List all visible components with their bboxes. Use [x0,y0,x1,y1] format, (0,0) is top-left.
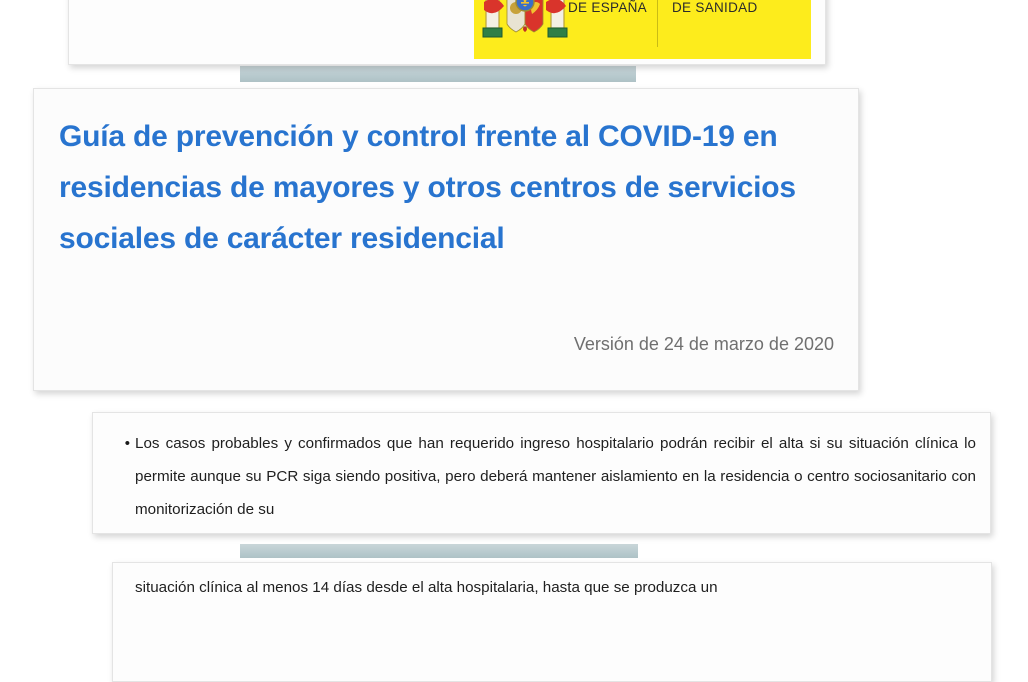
bullet-paragraph-card: • Los casos probables y confirmados que … [92,412,991,534]
logo-header-card: GOBIERNO DE ESPAÑA MINISTERIO DE SANIDAD [68,0,826,65]
page-title: Guía de prevención y control frente al C… [59,111,841,264]
ministerio-line-2: DE SANIDAD [672,0,758,16]
continuation-paragraph-text: situación clínica al menos 14 días desde… [135,571,975,604]
document-version-label: Versión de 24 de marzo de 2020 [574,334,834,355]
coat-of-arms-icon [482,0,568,50]
document-viewer-canvas: GOBIERNO DE ESPAÑA MINISTERIO DE SANIDAD… [0,0,1028,578]
gobierno-line-2: DE ESPAÑA [568,0,647,16]
list-item: • Los casos probables y confirmados que … [93,427,990,526]
gobierno-de-espana-label: GOBIERNO DE ESPAÑA [568,0,647,16]
card-connector-band-top [240,66,636,82]
card-connector-band-middle [240,544,638,558]
logo-vertical-divider [657,0,658,47]
continuation-paragraph-card: situación clínica al menos 14 días desde… [112,562,992,682]
bullet-paragraph-text: Los casos probables y confirmados que ha… [135,427,990,526]
ministerio-de-sanidad-label: MINISTERIO DE SANIDAD [672,0,758,16]
bullet-point-icon: • [93,427,135,526]
government-logo-block: GOBIERNO DE ESPAÑA MINISTERIO DE SANIDAD [474,0,811,59]
cover-title-card: Guía de prevención y control frente al C… [33,88,859,391]
